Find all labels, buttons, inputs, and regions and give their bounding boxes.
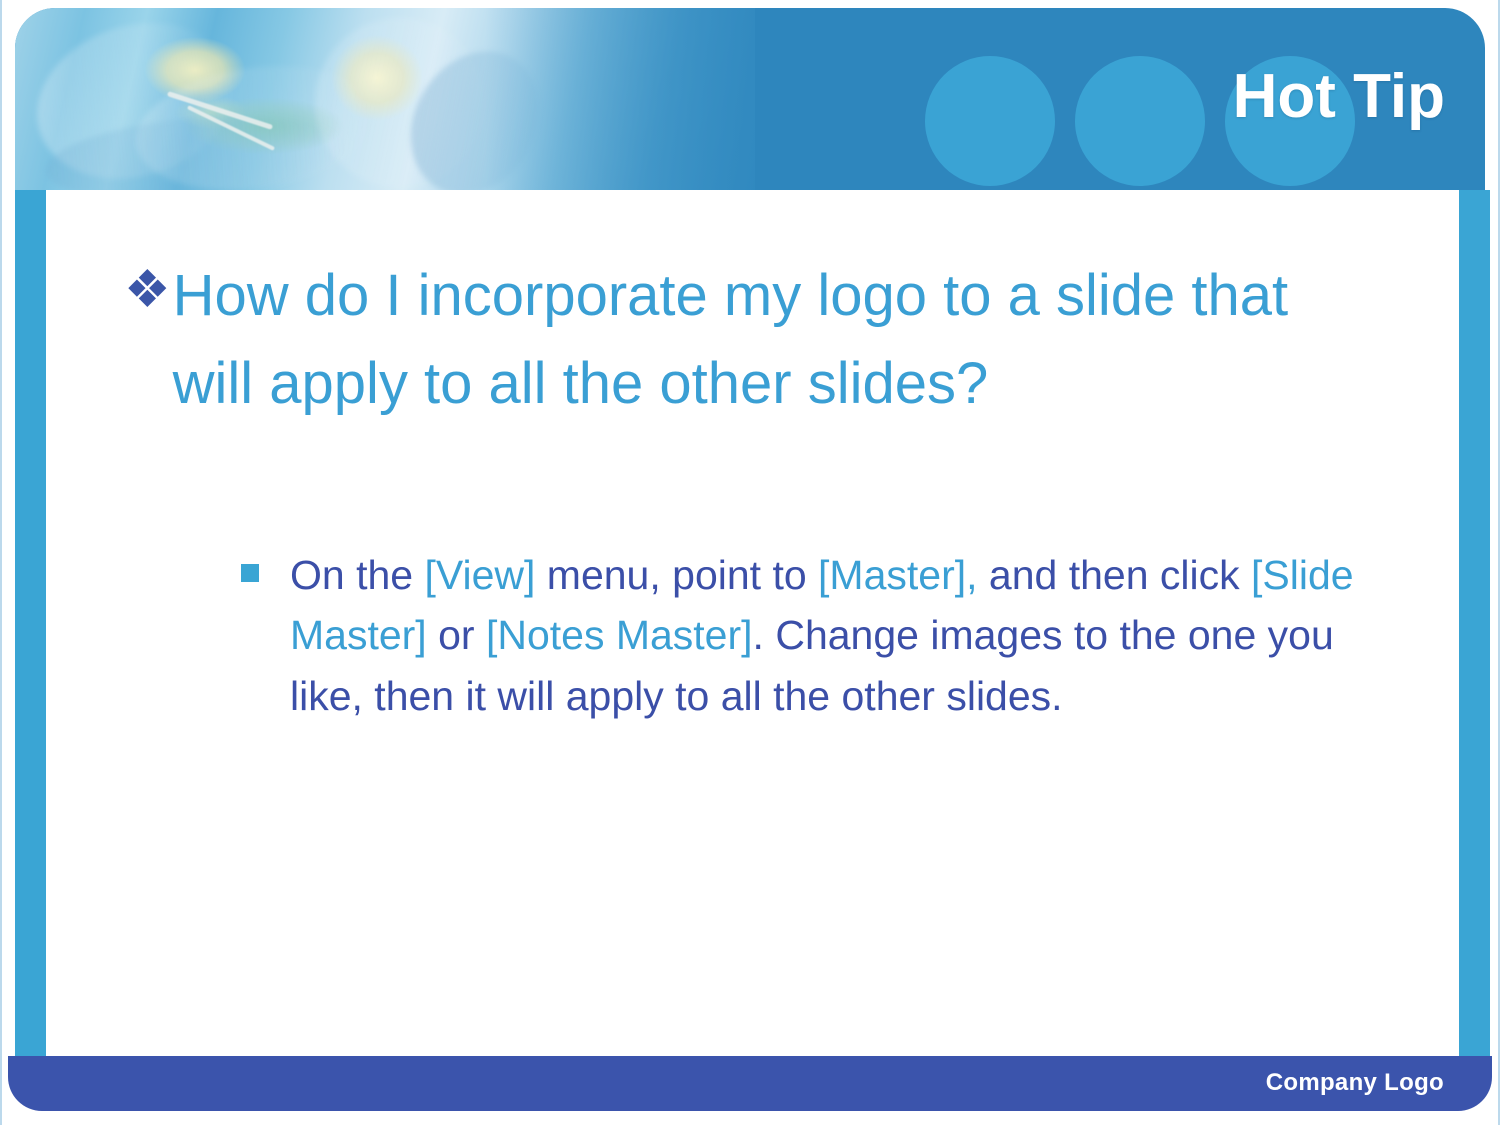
photo-fade-overlay (485, 8, 825, 190)
answer-text-segment: On the (290, 552, 424, 598)
answer-block: On the [View] menu, point to [Master], a… (241, 545, 1401, 726)
question-block: ❖ How do I incorporate my logo to a slid… (124, 252, 1374, 428)
company-logo-label: Company Logo (1266, 1069, 1444, 1097)
menu-path-token: [Master], (818, 552, 977, 598)
answer-text-segment: menu, point to (535, 552, 818, 598)
decor-circle-icon (925, 56, 1055, 186)
accent-stripe-left (15, 190, 46, 1056)
slide: Hot Tip ❖ How do I incorporate my logo t… (0, 0, 1500, 1125)
answer-text-segment: and then click (978, 552, 1252, 598)
decor-circle-icon (1075, 56, 1205, 186)
slide-content: ❖ How do I incorporate my logo to a slid… (46, 190, 1459, 1056)
diamond-bullet-icon: ❖ (124, 252, 171, 328)
slide-border-left (0, 0, 2, 1125)
slide-title: Hot Tip (1233, 66, 1445, 128)
answer-text-segment: or (427, 612, 486, 658)
answer-text: On the [View] menu, point to [Master], a… (290, 545, 1401, 726)
menu-path-token: [View] (424, 552, 535, 598)
menu-path-token: [Notes Master] (486, 612, 753, 658)
square-bullet-icon (241, 564, 259, 582)
slide-header: Hot Tip (15, 8, 1485, 190)
question-text: How do I incorporate my logo to a slide … (173, 252, 1374, 428)
accent-stripe-right (1459, 190, 1490, 1056)
